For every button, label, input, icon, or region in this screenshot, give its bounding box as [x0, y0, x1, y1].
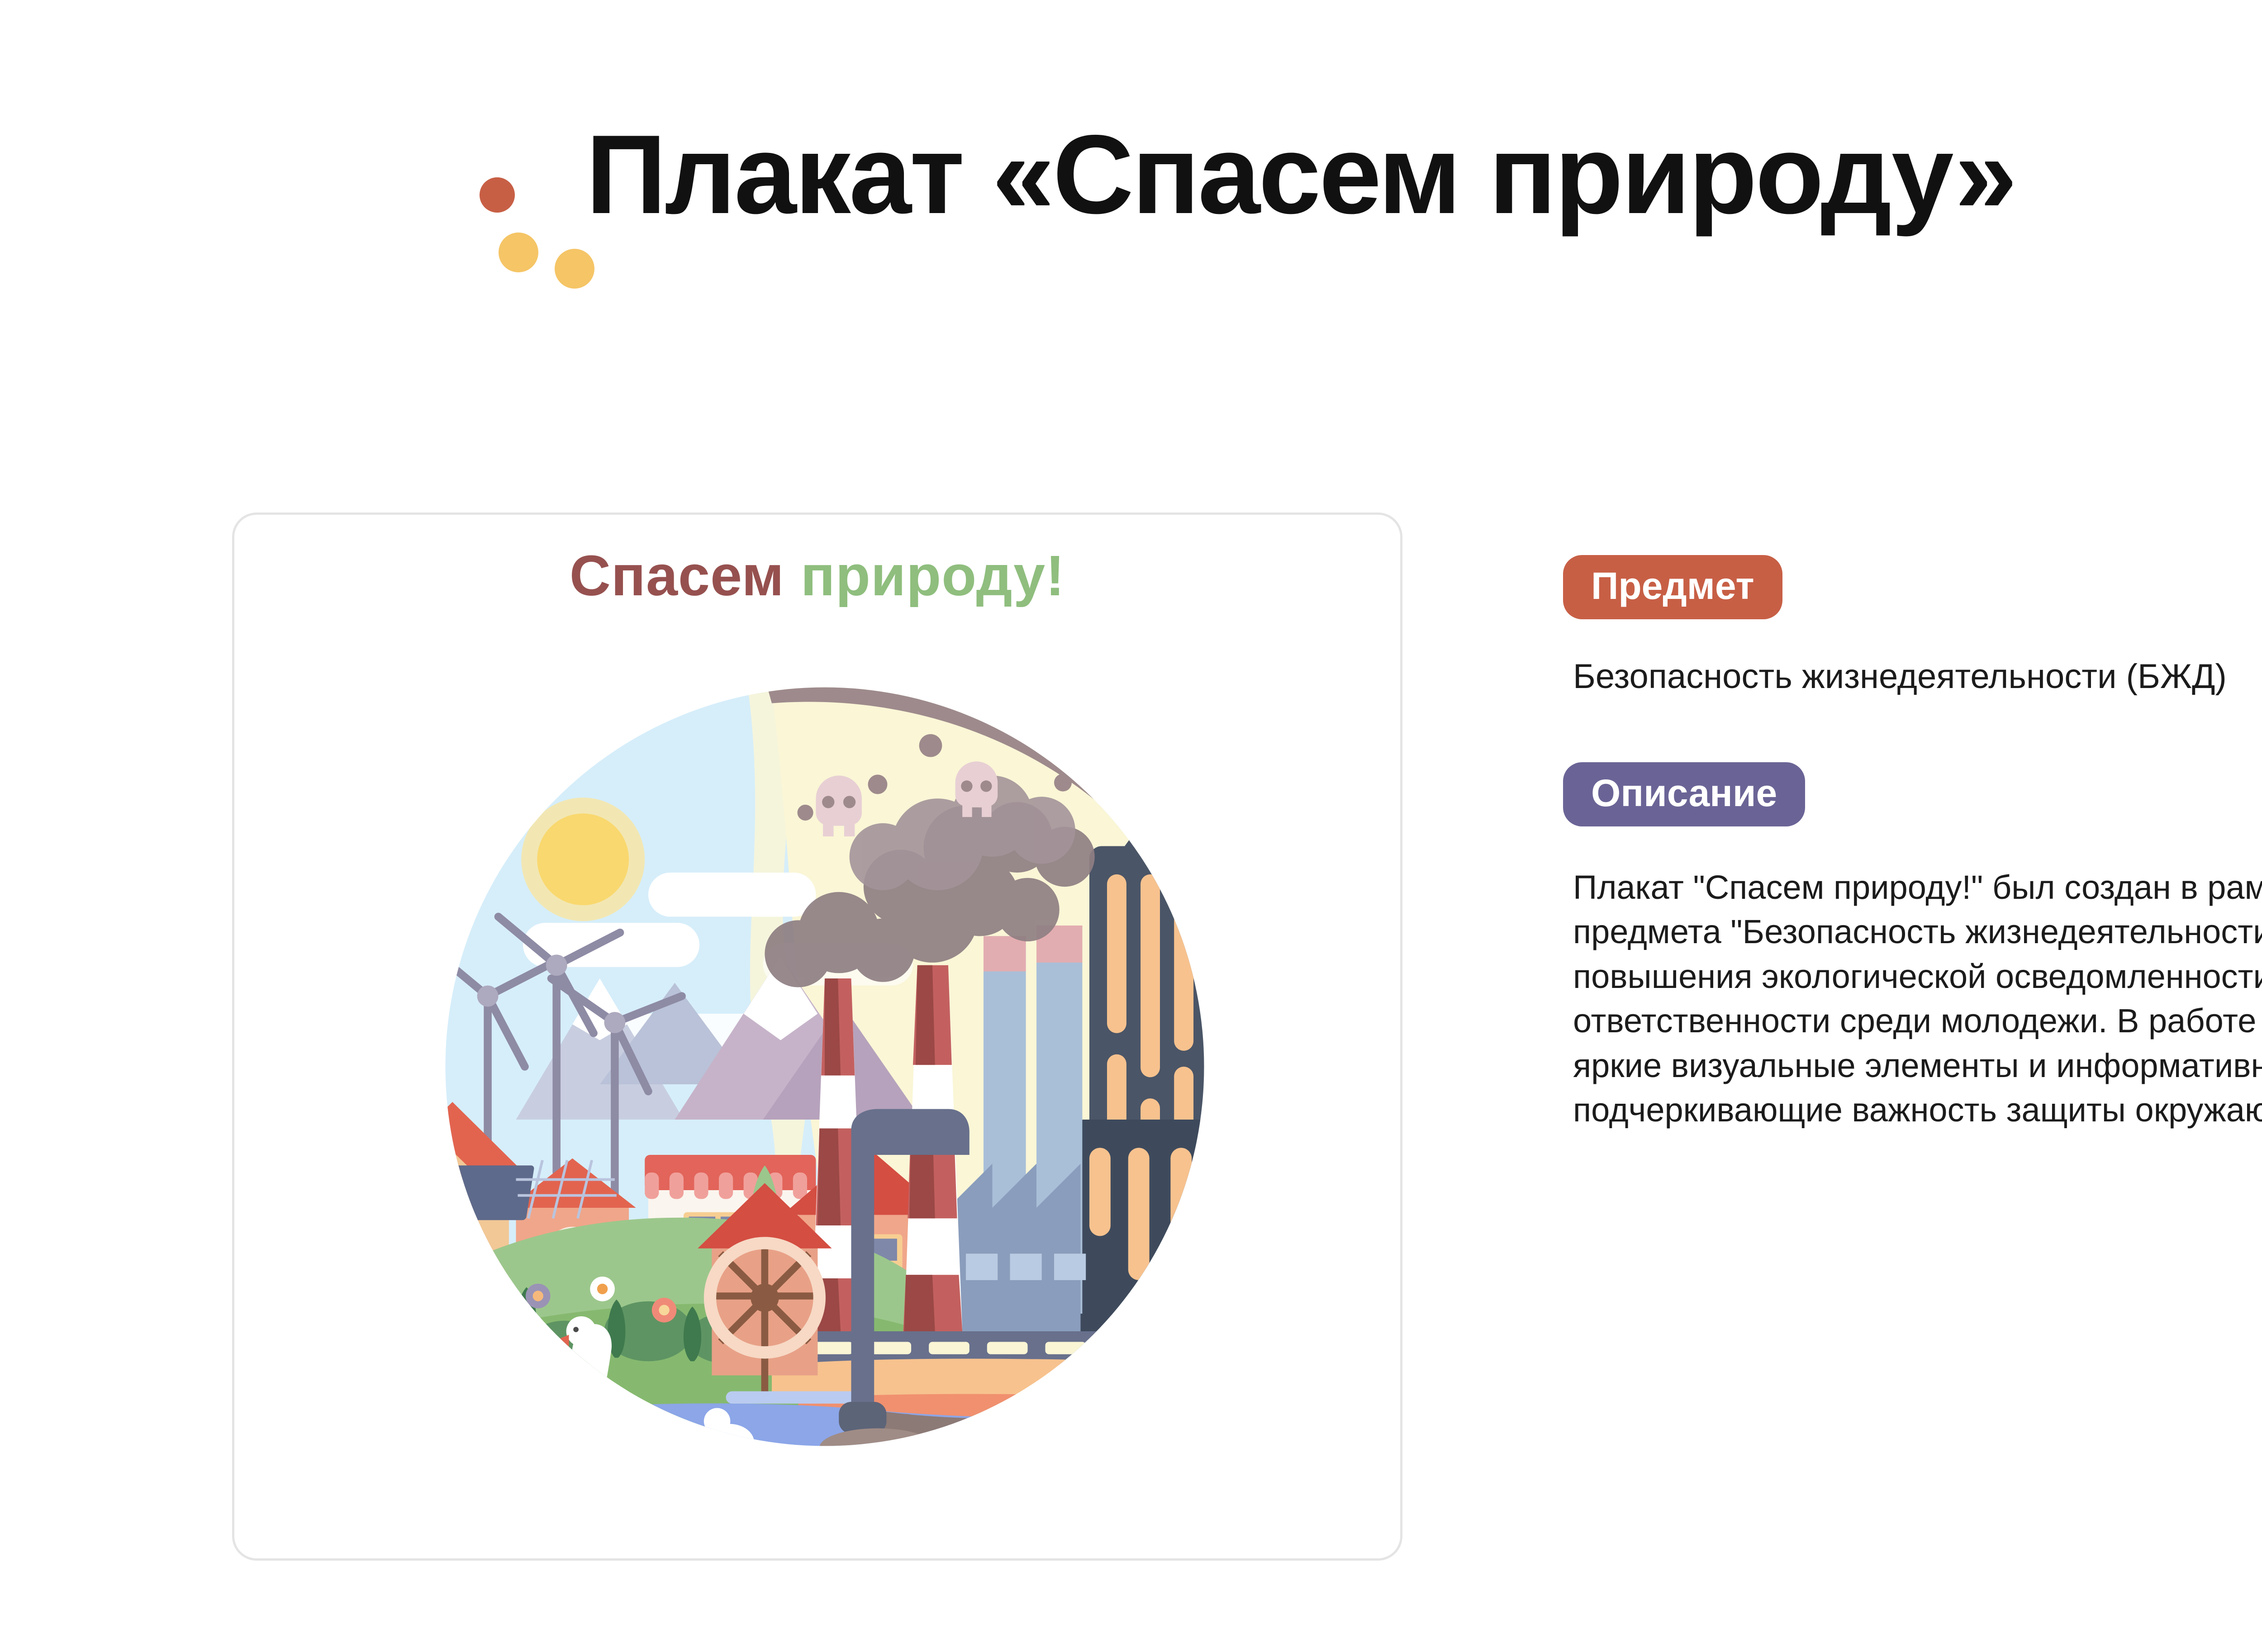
info-column: Предмет Безопасность жизнедеятельности (… [1563, 555, 2262, 1132]
poster-headline-part-1: Спасем [570, 544, 784, 608]
page-title: Плакат «Спасем природу» [586, 104, 2015, 244]
page-header: Плакат «Спасем природу» [475, 104, 2262, 299]
decor-dot-icon-left-red [480, 177, 515, 213]
subject-value: Безопасность жизнедеятельности (БЖД) [1573, 657, 2262, 696]
decor-dot-icon-left-yellow-2 [555, 249, 594, 289]
poster-headline-part-2: природу! [801, 544, 1065, 608]
description-text: Плакат "Спасем природу!" был создан в ра… [1573, 865, 2262, 1132]
description-badge: Описание [1563, 762, 1805, 826]
subject-badge: Предмет [1563, 555, 1782, 619]
description-badge-wrap: Описание [1563, 762, 2262, 826]
decor-dot-icon-left-yellow-1 [499, 233, 538, 272]
eco-scene-svg [384, 626, 1266, 1508]
poster-image: Спасем природу! [234, 515, 1400, 1558]
poster-illustration [384, 626, 1266, 1508]
poster-headline: Спасем природу! [234, 543, 1400, 608]
poster-card[interactable]: Спасем природу! [232, 513, 1402, 1561]
